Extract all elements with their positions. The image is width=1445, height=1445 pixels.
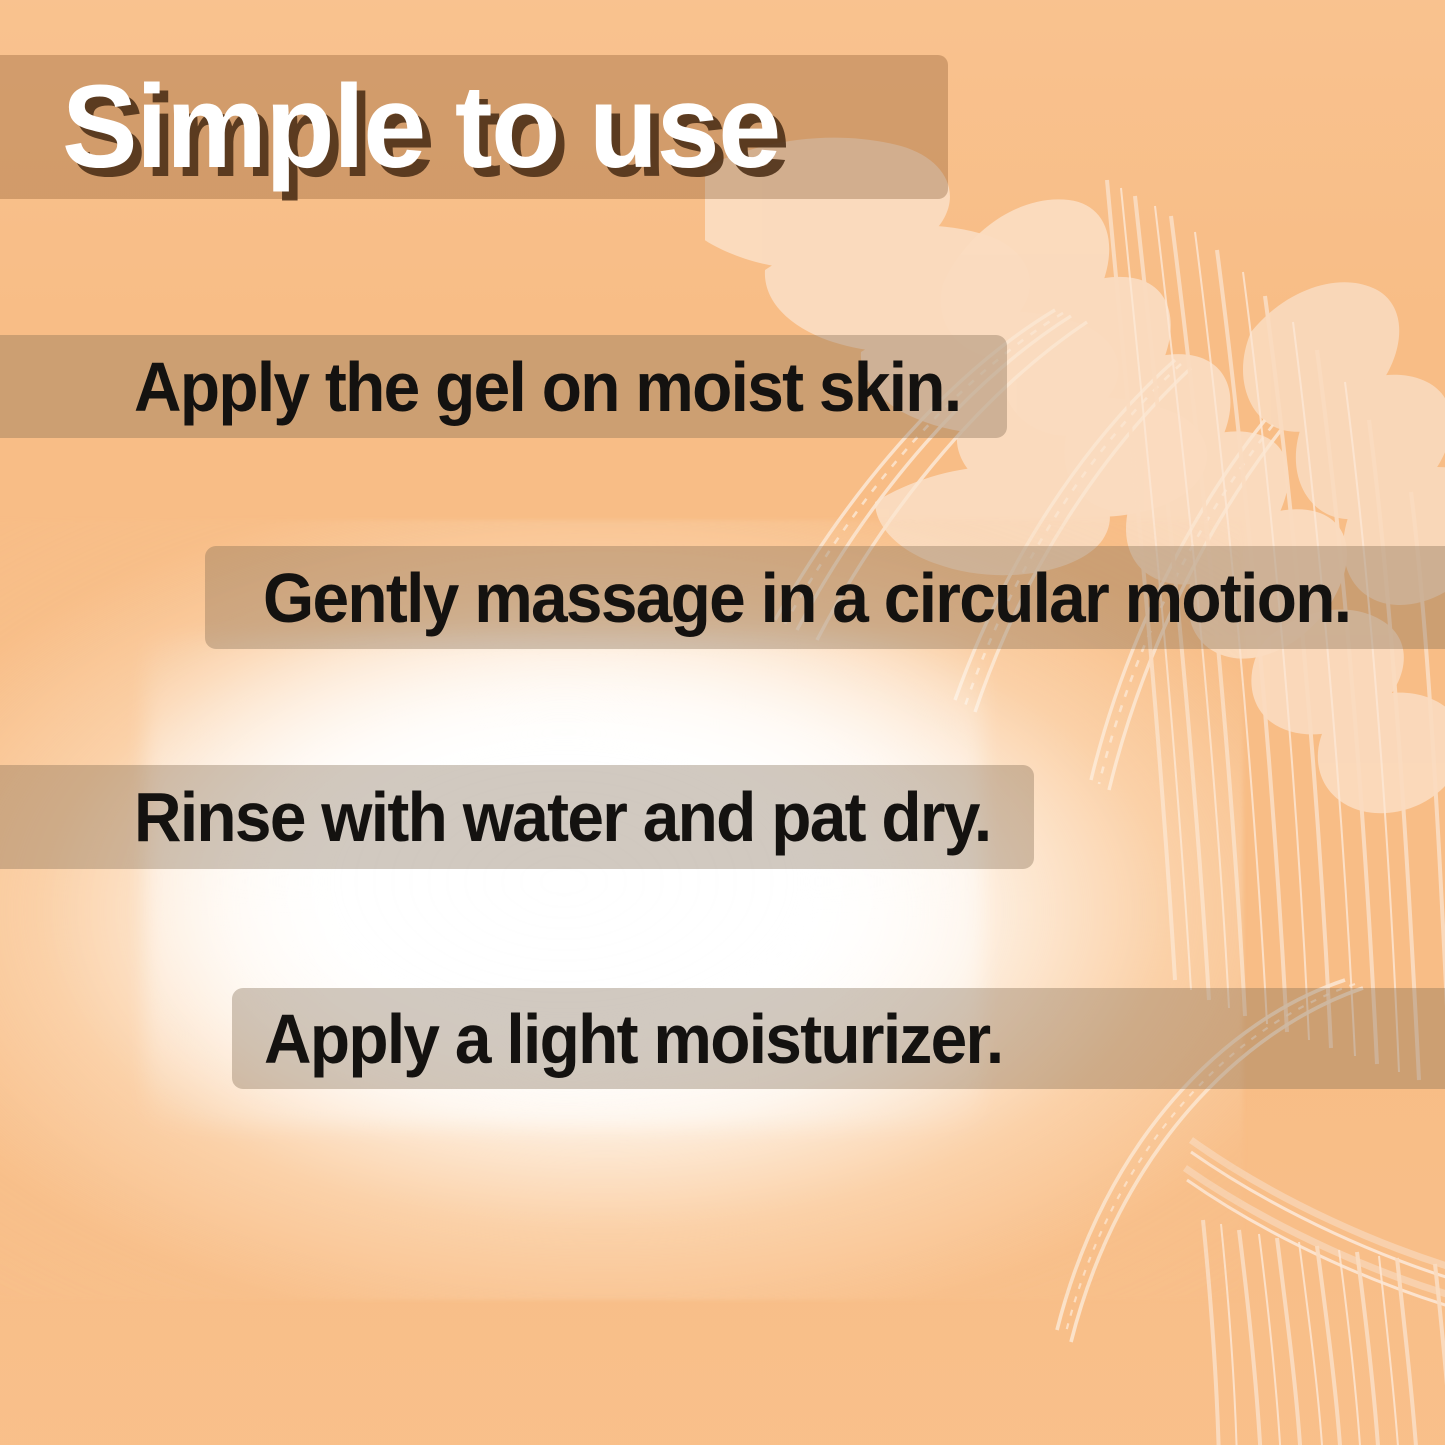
instruction-poster: Simple to use Apply the gel on moist ski… — [0, 0, 1445, 1445]
step-label-1: Apply the gel on moist skin. — [134, 352, 960, 422]
step-label-3: Rinse with water and pat dry. — [134, 782, 990, 852]
step-band-4: Apply a light moisturizer. — [232, 988, 1445, 1089]
title-band: Simple to use — [0, 55, 948, 199]
step-band-3: Rinse with water and pat dry. — [0, 765, 1034, 869]
step-band-1: Apply the gel on moist skin. — [0, 335, 1007, 438]
step-label-2: Gently massage in a circular motion. — [263, 563, 1350, 633]
step-band-2: Gently massage in a circular motion. — [205, 546, 1445, 649]
step-label-4: Apply a light moisturizer. — [264, 1004, 1002, 1074]
page-title: Simple to use — [62, 68, 780, 186]
